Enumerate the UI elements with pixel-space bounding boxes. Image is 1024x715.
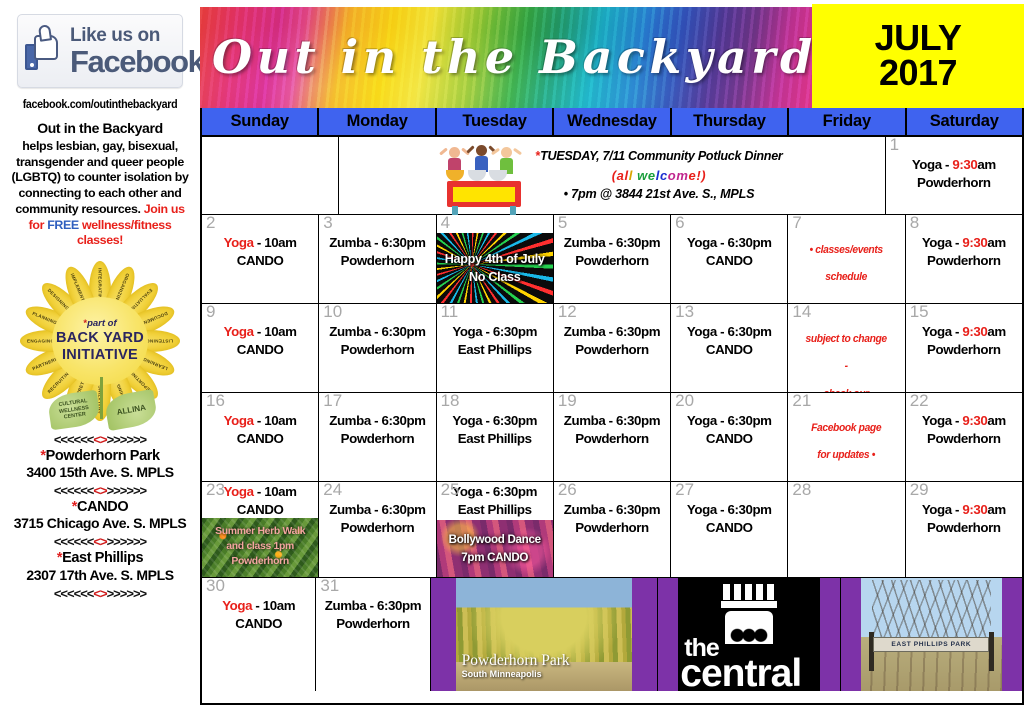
divider-3: <<<<<<<>>>>>>> <box>0 534 200 549</box>
east-phillips-photo: EAST PHILLIPS PARK <box>861 578 1002 691</box>
note-line: check our <box>796 381 897 393</box>
day-event-location: Powderhorn <box>557 519 667 537</box>
day-cell-5[interactable]: 5Zumba - 6:30pmPowderhorn <box>554 215 671 304</box>
day-event-location: Powderhorn <box>322 341 432 359</box>
day-cell-13[interactable]: 13Yoga - 6:30pmCANDO <box>671 304 788 393</box>
month-year-box: JULY 2017 <box>812 4 1024 108</box>
day-number: 30 <box>206 578 225 596</box>
day-header-wednesday: Wednesday <box>554 108 671 137</box>
day-header-sunday: Sunday <box>202 108 319 137</box>
note-line: schedule <box>796 264 897 291</box>
org-description: Out in the Backyardhelps lesbian, gay, b… <box>8 120 192 249</box>
day-number: 12 <box>558 304 577 322</box>
day-number: 5 <box>558 215 567 233</box>
day-header-saturday: Saturday <box>907 108 1022 137</box>
day-event-location: CANDO <box>205 430 315 448</box>
calendar-week-row: 9Yoga - 10amCANDO10Zumba - 6:30pmPowderh… <box>202 304 1022 393</box>
potluck-line2: (all welcome!) <box>535 166 782 186</box>
calendar-weeks: 2Yoga - 10amCANDO3Zumba - 6:30pmPowderho… <box>202 215 1022 691</box>
day-number: 16 <box>206 393 225 411</box>
day-event-location: Powderhorn <box>557 252 667 270</box>
back-yard-initiative-logo: INTEGRATINGORGANIZINGEVALUATINGDOCUMENTI… <box>7 253 193 429</box>
day-cell-25[interactable]: 25Yoga - 6:30pmEast PhillipsBollywood Da… <box>437 482 554 578</box>
day-number: 18 <box>441 393 460 411</box>
empty-cell-sunday <box>202 137 339 215</box>
fb-badge-line2: Facebook <box>70 46 204 77</box>
day-header-monday: Monday <box>319 108 436 137</box>
day-number: 19 <box>558 393 577 411</box>
image-caption-line: Powderhorn <box>231 555 289 570</box>
location-3-name: *East Phillips <box>0 550 200 566</box>
day-cell-27[interactable]: 27Yoga - 6:30pmCANDO <box>671 482 788 578</box>
day-event-location: Powderhorn <box>909 519 1019 537</box>
herb-walk-image: Summer Herb Walkand class 1pmPowderhorn <box>202 518 318 577</box>
day-cell-15[interactable]: 15Yoga - 9:30amPowderhorn <box>906 304 1022 393</box>
day-of-week-header: SundayMondayTuesdayWednesdayThursdayFrid… <box>202 108 1022 137</box>
day-cell-12[interactable]: 12Zumba - 6:30pmPowderhorn <box>554 304 671 393</box>
facebook-like-badge[interactable]: Like us on Facebook <box>17 14 183 88</box>
day-event: Yoga - 9:30amPowderhorn <box>906 215 1022 269</box>
location-2-name: *CANDO <box>0 499 200 515</box>
calendar-week-row: 2Yoga - 10amCANDO3Zumba - 6:30pmPowderho… <box>202 215 1022 304</box>
day-event-location: Powderhorn <box>909 430 1019 448</box>
east-phillips-park-logo: EAST PHILLIPS PARK <box>841 578 1022 691</box>
day-number: 14 <box>792 304 811 322</box>
day-number: 6 <box>675 215 684 233</box>
day-number: 2 <box>206 215 215 233</box>
fireworks-image: Happy 4th of JulyNo Class <box>437 233 553 303</box>
image-caption-line: Happy 4th of July <box>445 250 545 268</box>
note-line: subject to change <box>796 326 897 353</box>
facebook-url[interactable]: facebook.com/outinthebackyard <box>7 99 193 111</box>
day-cell-1[interactable]: 1 Yoga - 9:30amPowderhorn <box>886 137 1022 215</box>
friday-schedule-note: • classes/eventsschedule <box>793 215 900 292</box>
image-caption-line: Bollywood Dance <box>449 531 541 548</box>
day-cell-24[interactable]: 24Zumba - 6:30pmPowderhorn <box>319 482 436 578</box>
day-cell-6[interactable]: 6Yoga - 6:30pmCANDO <box>671 215 788 304</box>
day-number: 15 <box>910 304 929 322</box>
day-number: 28 <box>792 482 811 500</box>
day-event-location: Powderhorn <box>322 252 432 270</box>
image-caption-line: No Class <box>469 268 521 286</box>
day-cell-21[interactable]: 21Facebook pagefor updates • <box>788 393 905 482</box>
day-cell-9[interactable]: 9Yoga - 10amCANDO <box>202 304 319 393</box>
image-caption-line: Summer Herb Walk <box>215 525 305 540</box>
day-header-friday: Friday <box>789 108 906 137</box>
announcement-week: *TUESDAY, 7/11 Community Potluck Dinner … <box>202 137 1022 215</box>
day-event: Yoga - 10amCANDO <box>202 215 318 269</box>
day-event-location: CANDO <box>674 430 784 448</box>
day-cell-7[interactable]: 7• classes/eventsschedule <box>788 215 905 304</box>
divider-1: <<<<<<<>>>>>>> <box>0 432 200 447</box>
day-number: 17 <box>323 393 342 411</box>
note-line: • classes/events <box>796 237 897 264</box>
central-logo-art: thecentral <box>678 578 819 691</box>
day-number: 21 <box>792 393 811 411</box>
note-line: - <box>796 353 897 380</box>
sidebar: Like us on Facebook facebook.com/outinth… <box>0 0 200 715</box>
day-cell-19[interactable]: 19Zumba - 6:30pmPowderhorn <box>554 393 671 482</box>
day-event-location: CANDO <box>205 615 312 633</box>
welcome-letter: ) <box>701 168 706 183</box>
calendar-region: Out in the Backyard JULY 2017 SundayMond… <box>200 0 1024 715</box>
welcome-letter: w <box>637 168 648 183</box>
divider-2: <<<<<<<>>>>>>> <box>0 483 200 498</box>
day-number: 11 <box>441 304 459 322</box>
location-1-address: 3400 15th Ave. S. MPLS <box>0 464 200 480</box>
day-number: 31 <box>320 578 339 596</box>
calendar-page: Like us on Facebook facebook.com/outinth… <box>0 0 1024 715</box>
part-of-label: *part of <box>83 319 116 329</box>
day-number: 10 <box>323 304 342 322</box>
day-cell-3[interactable]: 3Zumba - 6:30pmPowderhorn <box>319 215 436 304</box>
day-event: Yoga - 6:30pmCANDO <box>671 215 787 269</box>
bollywood-image: Bollywood Dance7pm CANDO <box>437 520 553 577</box>
day-cell-17[interactable]: 17Zumba - 6:30pmPowderhorn <box>319 393 436 482</box>
day-event: Yoga - 10amCANDO <box>202 304 318 358</box>
month-label: JULY <box>875 21 962 56</box>
day-cell-10[interactable]: 10Zumba - 6:30pmPowderhorn <box>319 304 436 393</box>
potluck-line3: • 7pm @ 3844 21st Ave. S., MPLS <box>535 185 782 204</box>
note-line: Facebook page <box>796 415 897 442</box>
calendar-week-row: 16Yoga - 10amCANDO17Zumba - 6:30pmPowder… <box>202 393 1022 482</box>
day-event-location: Powderhorn <box>319 615 426 633</box>
potluck-line1: *TUESDAY, 7/11 Community Potluck Dinner <box>535 147 782 166</box>
location-1-name: *Powderhorn Park <box>0 448 200 464</box>
day-cell-20[interactable]: 20Yoga - 6:30pmCANDO <box>671 393 788 482</box>
day-event: Yoga - 9:30amPowderhorn <box>886 137 1022 191</box>
day-cell-22[interactable]: 22Yoga - 9:30amPowderhorn <box>906 393 1022 482</box>
divider-4: <<<<<<<>>>>>>> <box>0 586 200 601</box>
location-3-address: 2307 17th Ave. S. MPLS <box>0 567 200 583</box>
day-event-location: Powderhorn <box>557 341 667 359</box>
day-event-location: Powderhorn <box>909 252 1019 270</box>
day-event: Zumba - 6:30pmPowderhorn <box>554 215 670 269</box>
day-number: 25 <box>441 482 460 500</box>
day-number: 8 <box>910 215 919 233</box>
day-number: 3 <box>323 215 332 233</box>
day-cell-8[interactable]: 8Yoga - 9:30amPowderhorn <box>906 215 1022 304</box>
day-cell-4[interactable]: 4Happy 4th of JulyNo Class <box>437 215 554 304</box>
note-line: for updates • <box>796 442 897 469</box>
powderhorn-photo: Powderhorn ParkSouth Minneapolis <box>456 578 633 691</box>
day-number: 9 <box>206 304 215 322</box>
the-central-logo: thecentral <box>658 578 840 691</box>
day-event-location: CANDO <box>674 519 784 537</box>
banner-title: Out in the Backyard <box>212 29 806 83</box>
day-event-location: CANDO <box>674 252 784 270</box>
welcome-letter: c <box>660 168 668 183</box>
sunflower-disc: *part of BACK YARD INITIATIVE <box>52 297 148 385</box>
day-event-location: CANDO <box>205 252 315 270</box>
day-cell-31[interactable]: 31Zumba - 6:30pmPowderhorn <box>316 578 430 691</box>
day-number: 13 <box>675 304 694 322</box>
day-event-location: Powderhorn <box>322 430 432 448</box>
day-cell-29[interactable]: 29Yoga - 9:30amPowderhorn <box>906 482 1022 578</box>
fb-badge-line1: Like us on <box>70 26 204 45</box>
day-cell-18[interactable]: 18Yoga - 6:30pmEast Phillips <box>437 393 554 482</box>
day-header-tuesday: Tuesday <box>437 108 554 137</box>
day-cell-2[interactable]: 2Yoga - 10amCANDO <box>202 215 319 304</box>
welcome-letter: m <box>676 168 688 183</box>
image-caption-line: 7pm CANDO <box>461 549 528 566</box>
org-blurb-free: FREE <box>47 218 79 232</box>
day-cell-14[interactable]: 14subject to change-check our <box>788 304 905 393</box>
day-cell-26[interactable]: 26Zumba - 6:30pmPowderhorn <box>554 482 671 578</box>
day-number: 7 <box>792 215 801 233</box>
day-number: 23 <box>206 482 225 500</box>
rainbow-banner: Out in the Backyard <box>200 4 812 108</box>
day-number: 27 <box>675 482 694 500</box>
logo-line2: INITIATIVE <box>62 348 138 363</box>
day-event-location: East Phillips <box>440 341 550 359</box>
org-name: Out in the Backyard <box>8 120 192 138</box>
day-cell-16[interactable]: 16Yoga - 10amCANDO <box>202 393 319 482</box>
sunflower-stem <box>100 377 103 419</box>
day-number: 29 <box>910 482 929 500</box>
day-number: 22 <box>910 393 929 411</box>
thumbs-up-icon <box>25 28 67 74</box>
day-event-location: CANDO <box>205 501 315 519</box>
day-event-location: Powderhorn <box>322 519 432 537</box>
day-event-location: East Phillips <box>440 430 550 448</box>
logo-line1: BACK YARD <box>56 331 144 346</box>
powderhorn-park-logo: Powderhorn ParkSouth Minneapolis <box>431 578 659 691</box>
day-number: 24 <box>323 482 342 500</box>
day-event: Zumba - 6:30pmPowderhorn <box>319 215 435 269</box>
year-label: 2017 <box>879 56 957 91</box>
day-cell-11[interactable]: 11Yoga - 6:30pmEast Phillips <box>437 304 554 393</box>
org-blurb-classes: wellness/fitness classes! <box>77 218 171 248</box>
day-event-location: Powderhorn <box>557 430 667 448</box>
powderhorn-caption: Powderhorn ParkSouth Minneapolis <box>462 652 570 679</box>
day-event-location: East Phillips <box>440 501 550 519</box>
calendar-week-row: 30Yoga - 10amCANDO31Zumba - 6:30pmPowder… <box>202 578 1022 691</box>
day-number: 4 <box>441 215 450 233</box>
welcome-letter: e <box>648 168 656 183</box>
day-number: 1 <box>890 137 899 155</box>
image-caption-line: and class 1pm <box>226 540 294 555</box>
potluck-announcement: *TUESDAY, 7/11 Community Potluck Dinner … <box>339 137 885 215</box>
day-event-location: Powderhorn <box>909 341 1019 359</box>
day-header-thursday: Thursday <box>672 108 789 137</box>
day-cell-23[interactable]: 23Yoga - 10amCANDOSummer Herb Walkand cl… <box>202 482 319 578</box>
east-phillips-sign: EAST PHILLIPS PARK <box>873 637 989 652</box>
calendar-grid: SundayMondayTuesdayWednesdayThursdayFrid… <box>200 108 1024 705</box>
location-2-address: 3715 Chicago Ave. S. MPLS <box>0 515 200 531</box>
potluck-clipart <box>441 145 527 207</box>
day-event-location: CANDO <box>674 341 784 359</box>
calendar-week-row: 23Yoga - 10amCANDOSummer Herb Walkand cl… <box>202 482 1022 578</box>
welcome-letter: a <box>617 168 625 183</box>
day-event-location: CANDO <box>205 341 315 359</box>
calendar-banner: Out in the Backyard JULY 2017 <box>200 4 1024 108</box>
day-cell-30[interactable]: 30Yoga - 10amCANDO <box>202 578 316 691</box>
day-number: 26 <box>558 482 577 500</box>
day-cell-28[interactable]: 28 <box>788 482 905 578</box>
day-number: 20 <box>675 393 694 411</box>
